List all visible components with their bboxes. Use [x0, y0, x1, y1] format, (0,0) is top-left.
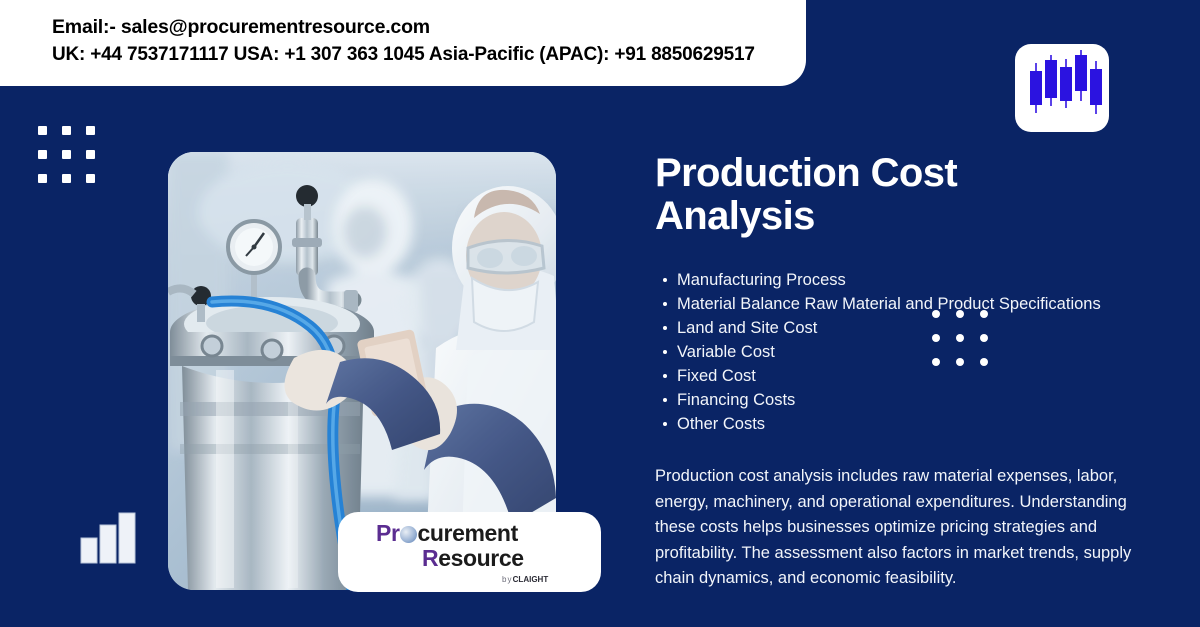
logo-word-procurement-suffix: curement	[418, 520, 518, 546]
dot	[38, 174, 47, 183]
dot	[38, 126, 47, 135]
bar-chart-icon-wrapper	[80, 512, 136, 564]
logo-byline-prefix: by	[502, 575, 513, 584]
list-item: Material Balance Raw Material and Produc…	[655, 292, 1155, 316]
logo-globe-icon	[400, 526, 417, 543]
contact-email-line: Email:- sales@procurementresource.com	[52, 14, 806, 41]
list-item: Variable Cost	[655, 340, 1155, 364]
list-item: Other Costs	[655, 412, 1155, 436]
dot	[62, 126, 71, 135]
page-title: Production Cost Analysis	[655, 152, 995, 238]
contact-bar: Email:- sales@procurementresource.com UK…	[0, 0, 806, 86]
list-item: Fixed Cost	[655, 364, 1155, 388]
topics-list: Manufacturing Process Material Balance R…	[655, 268, 1155, 436]
list-item: Land and Site Cost	[655, 316, 1155, 340]
dot	[62, 174, 71, 183]
description-paragraph: Production cost analysis includes raw ma…	[655, 464, 1153, 592]
bar-chart-icon	[80, 512, 136, 564]
logo-letter-r: R	[422, 545, 438, 571]
dot	[62, 150, 71, 159]
dot	[86, 126, 95, 135]
dot	[86, 150, 95, 159]
logo-word-procurement: Prcurement	[376, 521, 518, 546]
logo-byline-company: CLAIGHT	[513, 575, 549, 584]
list-item: Manufacturing Process	[655, 268, 1155, 292]
logo-byline: byCLAIGHT	[502, 575, 548, 584]
dot	[38, 150, 47, 159]
logo-letter-p: Pr	[376, 520, 400, 546]
dot-grid-decor-top-left	[38, 126, 95, 183]
brand-logo-card[interactable]	[1015, 44, 1109, 132]
logo-word-resource-suffix: esource	[438, 545, 523, 571]
procurement-resource-logo[interactable]: Prcurement Resource byCLAIGHT	[338, 512, 601, 592]
poster-canvas: Email:- sales@procurementresource.com UK…	[0, 0, 1200, 627]
contact-phone-line: UK: +44 7537171117 USA: +1 307 363 1045 …	[52, 41, 806, 68]
dot	[86, 174, 95, 183]
list-item: Financing Costs	[655, 388, 1155, 412]
content-column: Production Cost Analysis Manufacturing P…	[655, 152, 1155, 592]
logo-word-resource: Resource	[422, 546, 524, 571]
candlestick-chart-icon	[1015, 44, 1109, 132]
